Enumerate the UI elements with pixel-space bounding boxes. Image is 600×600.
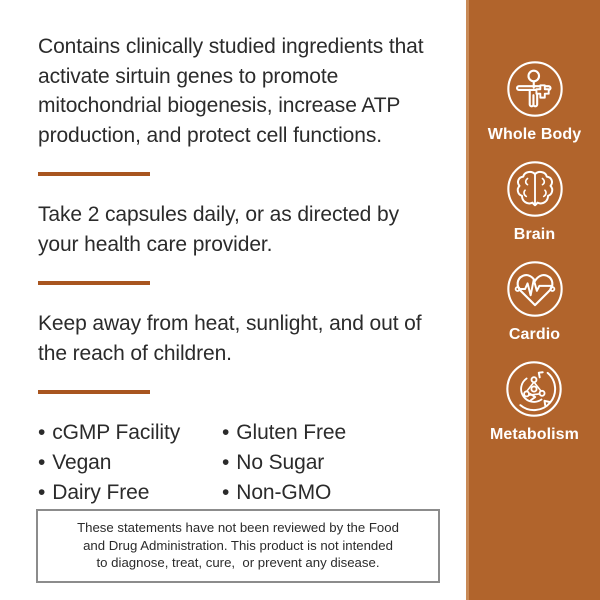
metabolism-atom-icon bbox=[503, 358, 565, 420]
cardio-heart-pulse-icon bbox=[504, 258, 566, 320]
badge-item: •cGMP Facility bbox=[38, 418, 222, 448]
benefit-label: Metabolism bbox=[490, 426, 579, 444]
benefit-brain: Brain bbox=[504, 158, 566, 244]
fda-disclaimer-box: These statements have not been reviewed … bbox=[36, 509, 440, 583]
badge-item: •No Sugar bbox=[222, 448, 346, 478]
bullet-icon: • bbox=[38, 421, 45, 444]
directions-paragraph: Take 2 capsules daily, or as directed by… bbox=[38, 200, 442, 259]
badge-column-2: •Gluten Free •No Sugar •Non-GMO bbox=[222, 418, 346, 508]
disclaimer-line: These statements have not been reviewed … bbox=[48, 519, 428, 537]
disclaimer-line: to diagnose, treat, cure, or prevent any… bbox=[48, 554, 428, 572]
bullet-icon: • bbox=[38, 481, 45, 504]
badge-item: •Dairy Free bbox=[38, 478, 222, 508]
badge-label: Dairy Free bbox=[52, 481, 149, 504]
badge-label: Gluten Free bbox=[236, 421, 346, 444]
whole-body-icon bbox=[504, 58, 566, 120]
benefit-label: Whole Body bbox=[488, 126, 581, 144]
badge-label: Vegan bbox=[52, 451, 111, 474]
badge-item: •Non-GMO bbox=[222, 478, 346, 508]
divider-rule-1 bbox=[38, 172, 150, 176]
bullet-icon: • bbox=[38, 451, 45, 474]
product-badge-list: •cGMP Facility •Vegan •Dairy Free •Glute… bbox=[38, 418, 466, 508]
benefit-whole-body: Whole Body bbox=[488, 58, 581, 144]
benefits-paragraph: Contains clinically studied ingredients … bbox=[38, 32, 442, 150]
benefit-label: Brain bbox=[514, 226, 555, 244]
badge-label: Non-GMO bbox=[236, 481, 331, 504]
badge-item: •Gluten Free bbox=[222, 418, 346, 448]
benefits-sidebar: Whole Body Brain bbox=[466, 0, 600, 600]
brain-icon bbox=[504, 158, 566, 220]
bullet-icon: • bbox=[222, 421, 229, 444]
badge-item: •Vegan bbox=[38, 448, 222, 478]
benefit-metabolism: Metabolism bbox=[490, 358, 579, 444]
divider-rule-3 bbox=[38, 390, 150, 394]
label-text-column: Contains clinically studied ingredients … bbox=[0, 0, 466, 600]
bullet-icon: • bbox=[222, 481, 229, 504]
badge-label: No Sugar bbox=[236, 451, 324, 474]
bullet-icon: • bbox=[222, 451, 229, 474]
divider-rule-2 bbox=[38, 281, 150, 285]
storage-warning-paragraph: Keep away from heat, sunlight, and out o… bbox=[38, 309, 442, 368]
supplement-label-panel: Contains clinically studied ingredients … bbox=[0, 0, 600, 600]
benefit-cardio: Cardio bbox=[504, 258, 566, 344]
badge-column-1: •cGMP Facility •Vegan •Dairy Free bbox=[38, 418, 222, 508]
badge-label: cGMP Facility bbox=[52, 421, 180, 444]
disclaimer-line: and Drug Administration. This product is… bbox=[48, 537, 428, 555]
benefit-label: Cardio bbox=[509, 326, 560, 344]
